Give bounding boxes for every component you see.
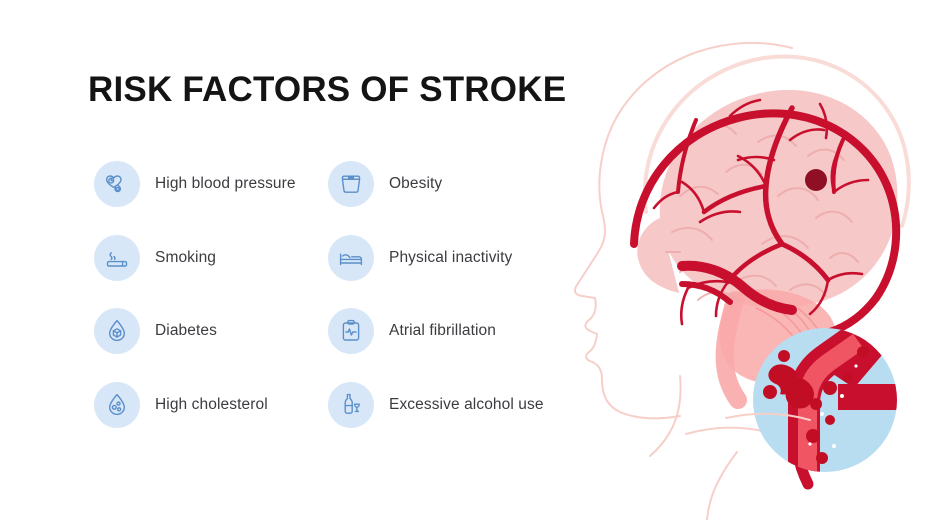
risk-item-excessive-alcohol-use[interactable]: Excessive alcohol use [328,382,544,428]
blood-drop-sugar-cube-icon [94,308,140,354]
weighing-scale-icon [328,161,374,207]
risk-item-high-blood-pressure[interactable]: High blood pressure [94,161,296,207]
risk-item-label: Obesity [389,175,442,193]
risk-item-obesity[interactable]: Obesity [328,161,442,207]
risk-factor-list: High blood pressure Smoking [0,0,580,520]
risk-item-label: Physical inactivity [389,249,512,267]
risk-item-diabetes[interactable]: Diabetes [94,308,217,354]
risk-item-label: High blood pressure [155,175,296,193]
bottle-and-wine-glass-icon [328,382,374,428]
risk-item-smoking[interactable]: Smoking [94,235,216,281]
clipboard-ecg-icon [328,308,374,354]
stroke-head-anatomy-illustration [530,0,936,520]
risk-item-label: Atrial fibrillation [389,322,496,340]
risk-item-label: Excessive alcohol use [389,396,544,414]
blood-clot-marker [805,169,827,191]
cigarette-icon [94,235,140,281]
risk-item-high-cholesterol[interactable]: High cholesterol [94,382,268,428]
risk-item-label: Diabetes [155,322,217,340]
infographic-canvas: RISK FACTORS OF STROKE High blood pressu… [0,0,936,520]
risk-item-label: High cholesterol [155,396,268,414]
bed-icon [328,235,374,281]
risk-item-label: Smoking [155,249,216,267]
risk-item-atrial-fibrillation[interactable]: Atrial fibrillation [328,308,496,354]
blood-drop-fat-globules-icon [94,382,140,428]
blood-pressure-monitor-icon [94,161,140,207]
risk-item-physical-inactivity[interactable]: Physical inactivity [328,235,512,281]
